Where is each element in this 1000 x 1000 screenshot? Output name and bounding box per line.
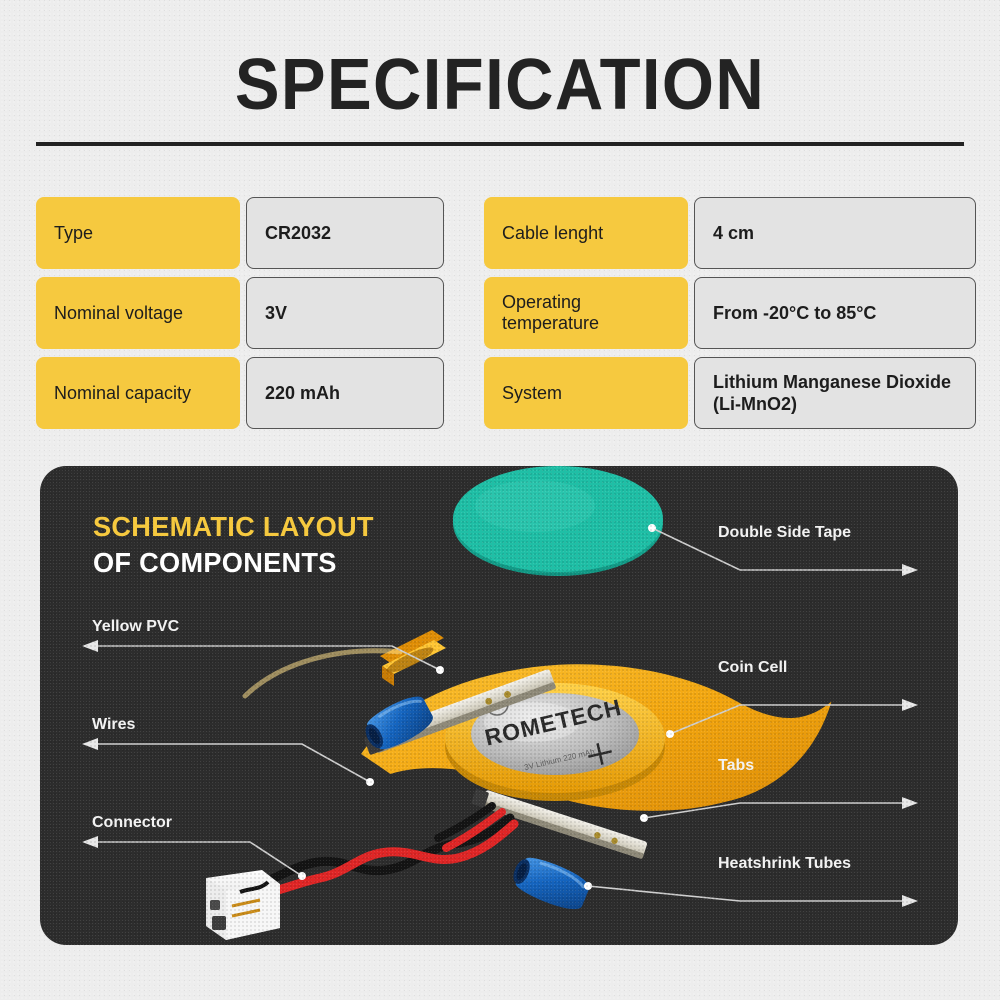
spec-column-right: Cable lenght 4 cm Operating temperature … — [484, 197, 928, 437]
table-row: System Lithium Manganese Dioxide (Li-MnO… — [484, 357, 928, 429]
schematic-panel: ROMETECH 3V Lithium 220 mAh — [40, 466, 958, 945]
table-row: Cable lenght 4 cm — [484, 197, 928, 269]
callout-wires: Wires — [92, 716, 135, 734]
callout-connector: Connector — [92, 814, 172, 832]
spec-key-cable-length: Cable lenght — [484, 197, 688, 269]
title-divider — [36, 142, 964, 146]
callout-coin-cell: Coin Cell — [718, 659, 787, 677]
spec-key-system: System — [484, 357, 688, 429]
callout-label: Connector — [92, 814, 172, 832]
spec-value-system: Lithium Manganese Dioxide (Li-MnO2) — [694, 357, 976, 429]
specification-sheet: SPECIFICATION Type CR2032 Nominal voltag… — [0, 0, 1000, 1000]
table-row: Nominal capacity 220 mAh — [36, 357, 480, 429]
spec-value-type: CR2032 — [246, 197, 444, 269]
spec-value-cable-length: 4 cm — [694, 197, 976, 269]
schematic-heading: SCHEMATIC LAYOUT OF COMPONENTS — [93, 511, 382, 579]
schematic-heading-line1: SCHEMATIC LAYOUT — [93, 511, 374, 543]
spec-key-nominal-capacity: Nominal capacity — [36, 357, 240, 429]
table-row: Type CR2032 — [36, 197, 480, 269]
spec-value-nominal-capacity: 220 mAh — [246, 357, 444, 429]
table-row: Nominal voltage 3V — [36, 277, 480, 349]
callout-double-side-tape: Double Side Tape — [718, 524, 851, 542]
callout-yellow-pvc: Yellow PVC — [92, 618, 179, 636]
callout-tabs: Tabs — [718, 757, 754, 775]
callout-label: Wires — [92, 716, 135, 734]
callout-label: Heatshrink Tubes — [718, 855, 851, 873]
callout-label: Yellow PVC — [92, 618, 179, 636]
page-title: SPECIFICATION — [35, 47, 965, 123]
spec-key-nominal-voltage: Nominal voltage — [36, 277, 240, 349]
spec-column-left: Type CR2032 Nominal voltage 3V Nominal c… — [36, 197, 480, 437]
callout-label: Tabs — [718, 757, 754, 775]
spec-key-type: Type — [36, 197, 240, 269]
callout-label: Coin Cell — [718, 659, 787, 677]
spec-key-operating-temperature: Operating temperature — [484, 277, 688, 349]
callout-label: Double Side Tape — [718, 524, 851, 542]
schematic-heading-line2: OF COMPONENTS — [93, 547, 374, 579]
table-row: Operating temperature From -20°C to 85°C — [484, 277, 928, 349]
spec-value-operating-temperature: From -20°C to 85°C — [694, 277, 976, 349]
callout-heatshrink-tubes: Heatshrink Tubes — [718, 855, 851, 873]
spec-value-nominal-voltage: 3V — [246, 277, 444, 349]
